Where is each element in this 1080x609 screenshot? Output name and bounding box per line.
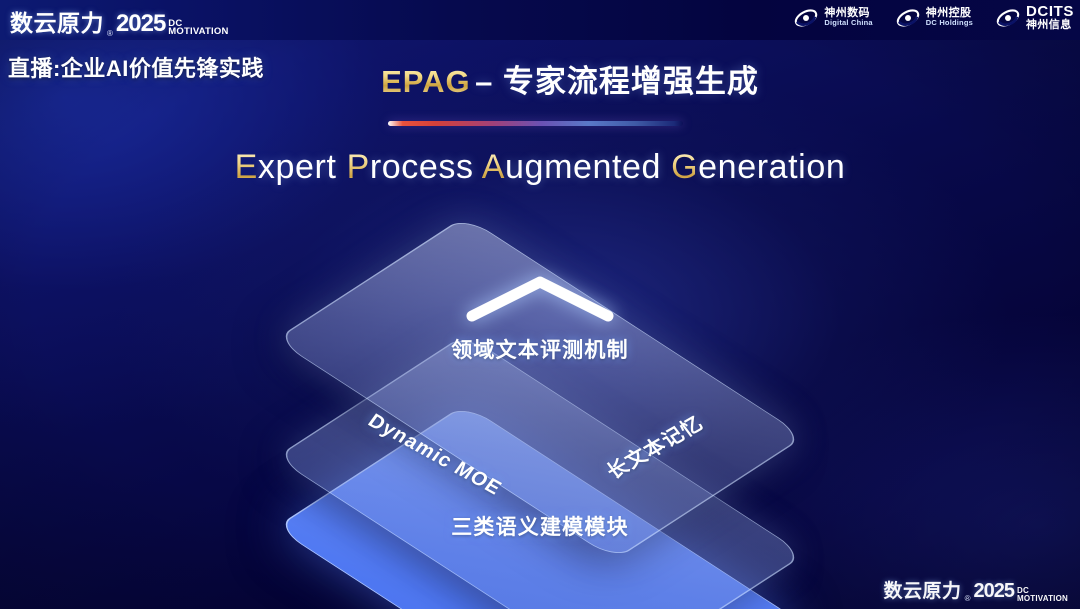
chevron-up-icon bbox=[462, 272, 618, 324]
subtitle-part: P bbox=[347, 148, 370, 186]
live-stream-title: 直播:企业AI价值先锋实践 bbox=[8, 51, 264, 83]
partner-logo-dc-holdings: 神州控股 DC Holdings bbox=[895, 5, 973, 31]
brand-year: 2025 bbox=[116, 10, 165, 38]
subtitle-part: G bbox=[671, 148, 698, 186]
subtitle: Expert Process Augmented Generation bbox=[0, 148, 1080, 187]
subtitle-part: E bbox=[235, 148, 258, 186]
swoosh-icon bbox=[895, 5, 921, 31]
brand-dc-line2: MOTIVATION bbox=[1017, 594, 1068, 603]
partner-logo-digital-china: 神州数码 Digital China bbox=[793, 5, 872, 31]
subtitle-part: eneration bbox=[698, 148, 845, 186]
partner-name-cn: 神州信息 bbox=[1026, 20, 1074, 32]
brand-logo-top-left: 数云原力® 2025 DC MOTIVATION bbox=[10, 4, 229, 38]
slide-canvas: 数云原力® 2025 DC MOTIVATION 直播:企业AI价值先锋实践 神… bbox=[0, 0, 1080, 609]
page-title-acronym: EPAG bbox=[381, 64, 471, 99]
brand-name-cn: 数云原力 bbox=[884, 576, 962, 603]
subtitle-part: xpert bbox=[258, 148, 347, 186]
subtitle-part: rocess bbox=[370, 148, 482, 186]
brand-dc-motivation: DC MOTIVATION bbox=[1017, 587, 1068, 603]
partner-name-en: Digital China bbox=[824, 19, 872, 27]
brand-registered-mark: ® bbox=[965, 594, 971, 603]
brand-logo-watermark: 数云原力® 2025 DC MOTIVATION bbox=[884, 576, 1068, 603]
subtitle-part: ugmented bbox=[505, 148, 671, 186]
brand-dc-line2: MOTIVATION bbox=[168, 26, 228, 37]
diagram-layer-top-label: 领域文本评测机制 bbox=[0, 334, 1080, 364]
brand-dc-motivation: DC MOTIVATION bbox=[168, 20, 228, 38]
brand-name-cn: 数云原力 bbox=[10, 4, 104, 38]
subtitle-part: A bbox=[482, 148, 505, 186]
diagram-layer-bottom-label: 三类语义建模模块 bbox=[0, 511, 1080, 541]
brand-registered-mark: ® bbox=[107, 29, 113, 38]
swoosh-icon bbox=[995, 5, 1021, 31]
swoosh-icon bbox=[793, 5, 819, 31]
partner-name-en: DCITS bbox=[1026, 4, 1074, 20]
partner-name-en: DC Holdings bbox=[926, 19, 973, 27]
brand-year: 2025 bbox=[973, 580, 1014, 603]
partner-logo-group: 神州数码 Digital China 神州控股 DC Holdings bbox=[793, 4, 1074, 31]
page-title-cn: – 专家流程增强生成 bbox=[475, 64, 759, 99]
partner-logo-dcits: DCITS 神州信息 bbox=[995, 4, 1074, 31]
gradient-divider bbox=[388, 121, 683, 126]
layered-architecture-diagram: 领域文本评测机制 Dynamic MOE 长文本记忆 三类语义建模模块 bbox=[0, 212, 1080, 602]
